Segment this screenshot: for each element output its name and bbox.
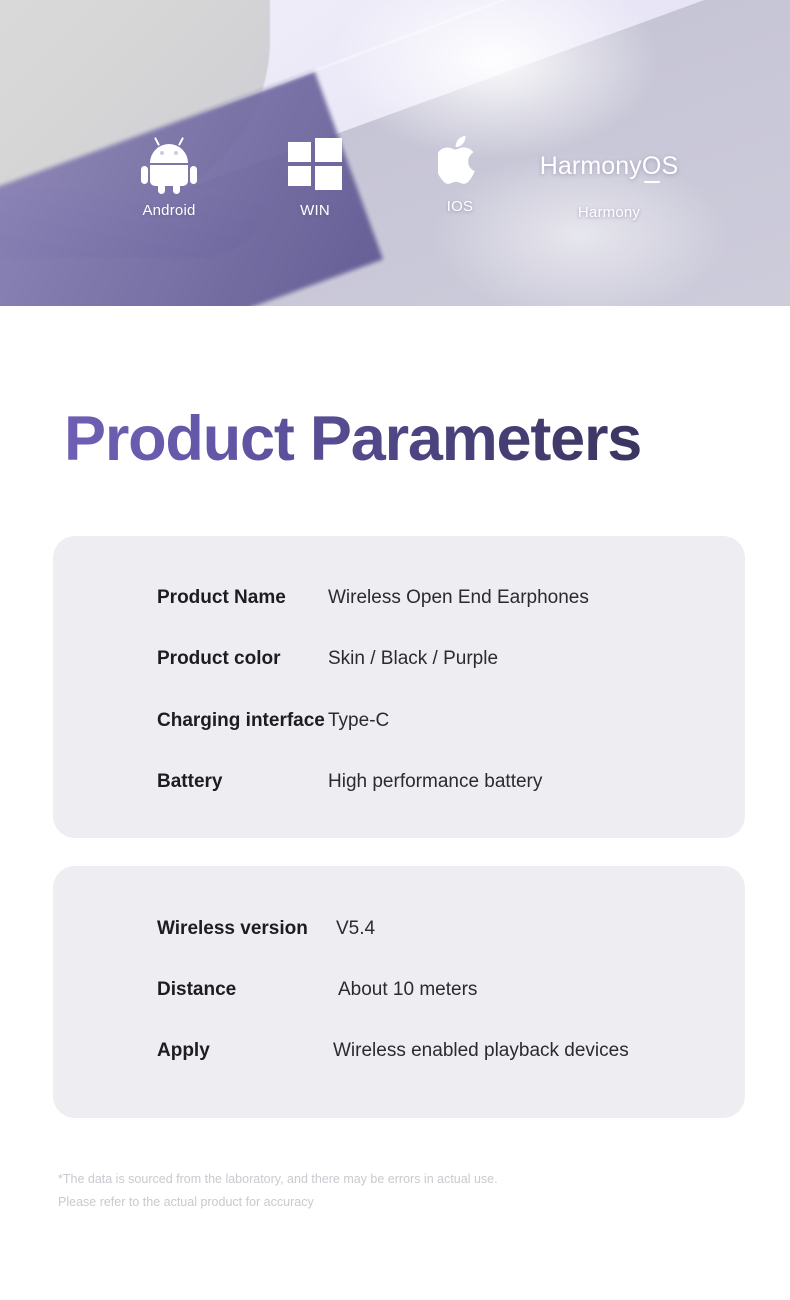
os-badge-label-harmony: Harmony <box>533 204 685 221</box>
harmony-wordmark-suffix: S <box>661 152 678 180</box>
os-badge-label-win: WIN <box>259 202 371 219</box>
harmony-wordmark-prefix: Harmony <box>540 152 642 180</box>
table-row: Product Name Wireless Open End Earphones <box>53 583 745 613</box>
row-value: High performance battery <box>328 767 542 797</box>
disclaimer-line-2: Please refer to the actual product for a… <box>58 1191 498 1214</box>
os-badge-label-android: Android <box>113 202 225 219</box>
row-label: Product color <box>157 644 281 674</box>
product-parameters-page: Android WIN IOS <box>0 0 790 1300</box>
table-row: Wireless version V5.4 <box>53 914 745 944</box>
table-row: Apply Wireless enabled playback devices <box>53 1036 745 1066</box>
row-value: About 10 meters <box>338 975 477 1005</box>
table-row: Battery High performance battery <box>53 767 745 797</box>
row-label: Distance <box>157 975 236 1005</box>
os-badge-label-ios: IOS <box>404 198 516 215</box>
parameters-card-basic: Product Name Wireless Open End Earphones… <box>53 536 745 838</box>
table-row: Charging interface Type-C <box>53 706 745 736</box>
row-label: Apply <box>157 1036 210 1066</box>
row-label: Product Name <box>157 583 286 613</box>
table-row: Distance About 10 meters <box>53 975 745 1005</box>
row-label: Battery <box>157 767 222 797</box>
harmonyos-wordmark-icon: HarmonyOS <box>533 152 685 181</box>
row-value: Wireless Open End Earphones <box>328 583 589 613</box>
table-row: Product color Skin / Black / Purple <box>53 644 745 674</box>
os-compatibility-row: Android WIN IOS <box>0 0 790 306</box>
os-badge-harmony: HarmonyOS Harmony <box>533 152 685 221</box>
hero-product-image: Android WIN IOS <box>0 0 790 306</box>
row-value: V5.4 <box>336 914 375 944</box>
parameters-card-connectivity: Wireless version V5.4 Distance About 10 … <box>53 866 745 1118</box>
os-badge-win: WIN <box>259 138 371 219</box>
row-label: Wireless version <box>157 914 308 944</box>
disclaimer-footnote: *The data is sourced from the laboratory… <box>58 1168 498 1214</box>
page-title: Product Parameters <box>64 408 641 471</box>
row-label: Charging interface <box>157 706 325 736</box>
harmony-wordmark-o: O <box>642 152 662 181</box>
android-robot-icon <box>141 132 197 188</box>
row-value: Skin / Black / Purple <box>328 644 498 674</box>
os-badge-android: Android <box>113 132 225 219</box>
disclaimer-line-1: *The data is sourced from the laboratory… <box>58 1168 498 1191</box>
row-value: Type-C <box>328 706 389 736</box>
windows-logo-icon <box>288 138 342 188</box>
row-value: Wireless enabled playback devices <box>333 1036 629 1066</box>
apple-logo-icon <box>438 133 482 187</box>
os-badge-ios: IOS <box>404 133 516 215</box>
